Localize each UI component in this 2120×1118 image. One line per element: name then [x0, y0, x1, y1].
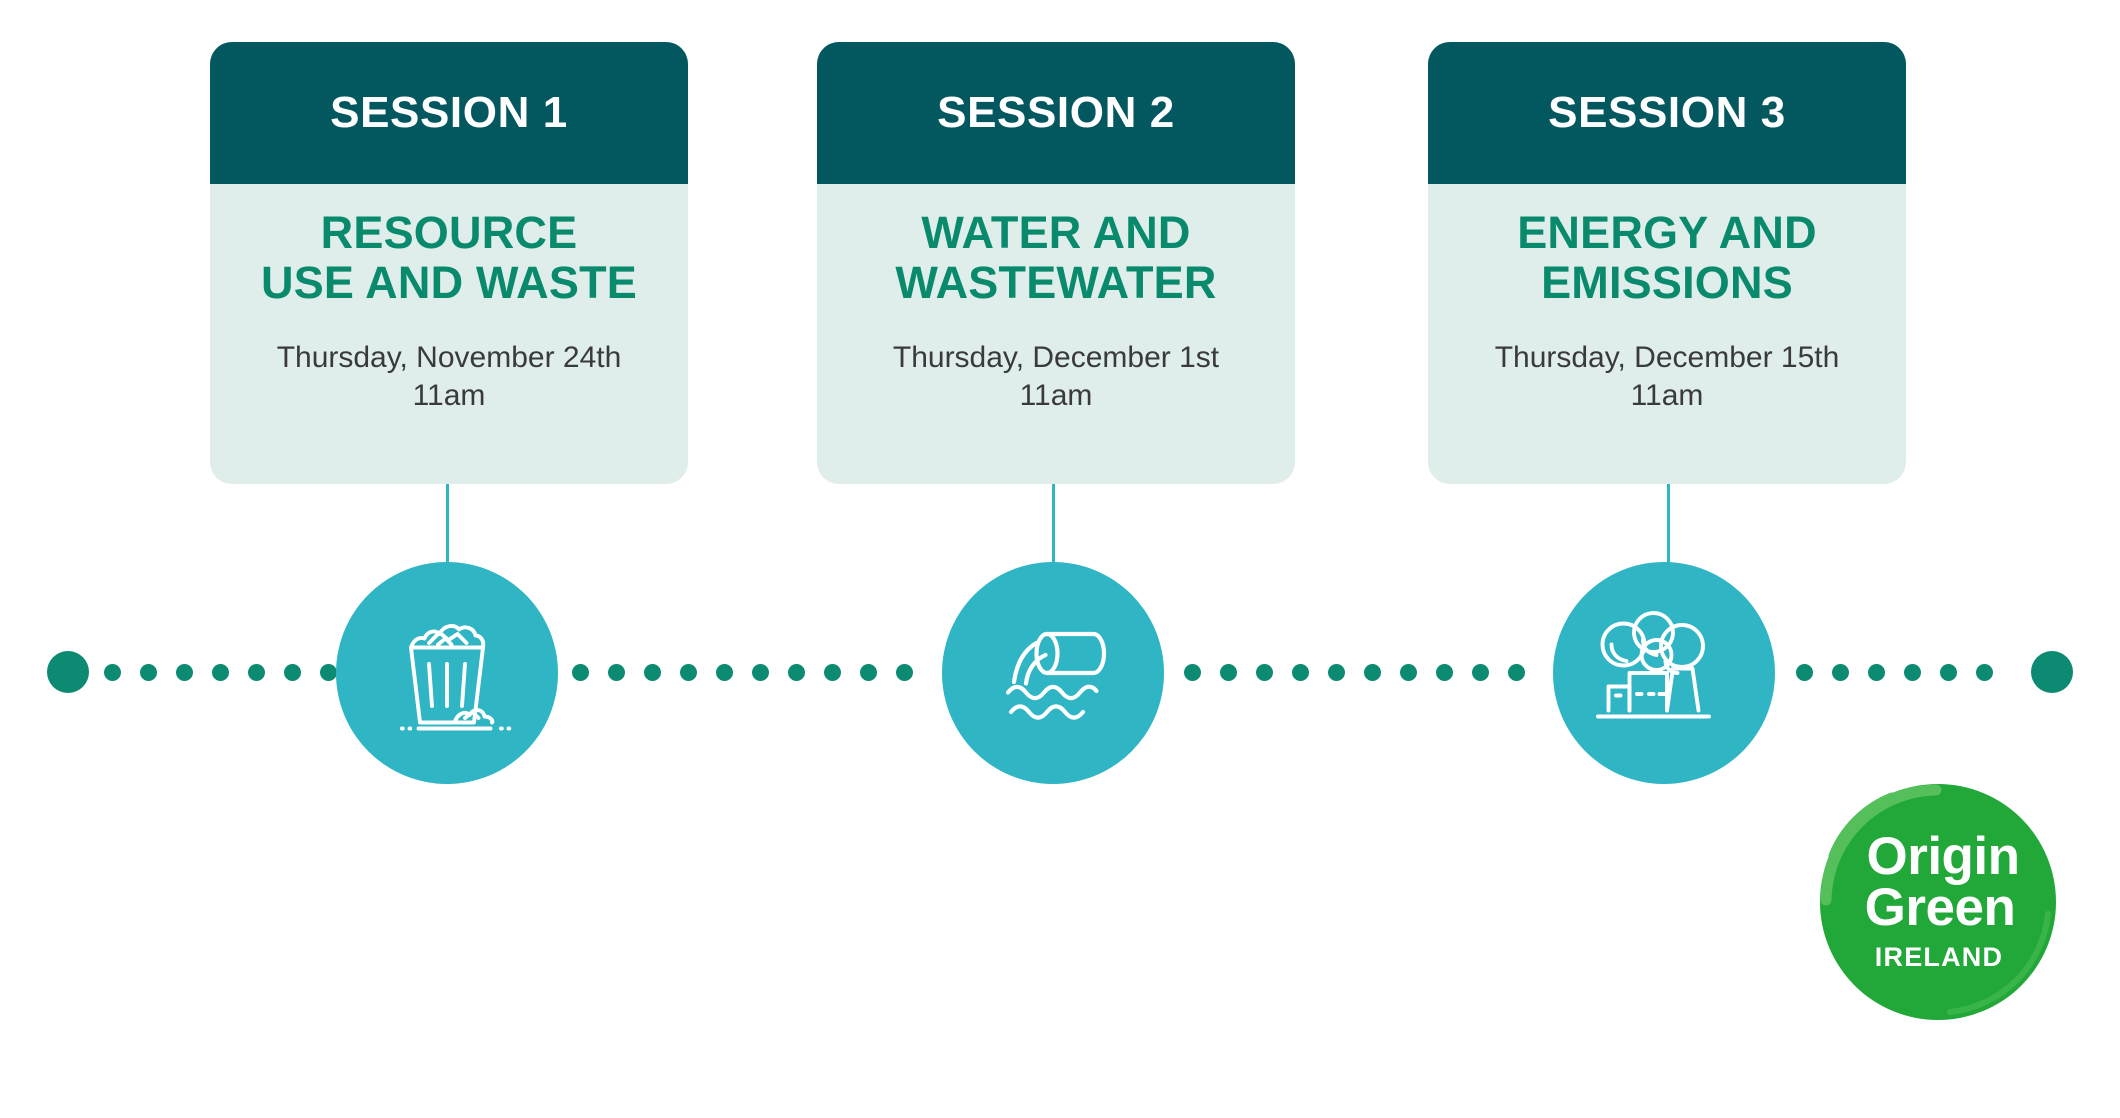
timeline-dot — [824, 664, 841, 681]
timeline-dot — [176, 664, 193, 681]
timeline-dot — [320, 664, 337, 681]
waste-bin-icon — [372, 598, 522, 748]
session-card-3-title: ENERGY AND EMISSIONS — [1446, 208, 1888, 309]
timeline-dot — [1184, 664, 1201, 681]
timeline-dot — [752, 664, 769, 681]
wastewater-pipe-icon — [978, 598, 1128, 748]
session-2-icon-circle[interactable] — [942, 562, 1164, 784]
origin-green-logo[interactable]: Origin Green IRELAND — [1818, 782, 2058, 1022]
timeline-dot — [1832, 664, 1849, 681]
timeline-endpoint-end — [2031, 651, 2073, 693]
timeline-dot — [896, 664, 913, 681]
session-card-3-badge: SESSION 3 — [1548, 91, 1786, 135]
session-card-1-title: RESOURCE USE AND WASTE — [228, 208, 670, 309]
timeline-dot — [140, 664, 157, 681]
session-card-2-body: WATER AND WASTEWATER Thursday, December … — [817, 184, 1295, 414]
session-card-1[interactable]: SESSION 1 RESOURCE USE AND WASTE Thursda… — [210, 42, 688, 484]
origin-green-badge-icon — [1818, 782, 2058, 1022]
session-card-1-body: RESOURCE USE AND WASTE Thursday, Novembe… — [210, 184, 688, 414]
timeline-dot — [644, 664, 661, 681]
timeline-dot — [1976, 664, 1993, 681]
session-card-1-header: SESSION 1 — [210, 42, 688, 184]
timeline-dot — [1436, 664, 1453, 681]
timeline-dot — [104, 664, 121, 681]
timeline-dot — [608, 664, 625, 681]
timeline-dot — [1400, 664, 1417, 681]
session-card-3-header: SESSION 3 — [1428, 42, 1906, 184]
session-3-icon-circle[interactable] — [1553, 562, 1775, 784]
timeline-dot — [572, 664, 589, 681]
connector-stem-session-2 — [1052, 484, 1055, 570]
timeline-dot — [212, 664, 229, 681]
timeline-dot — [1796, 664, 1813, 681]
timeline-dot — [1292, 664, 1309, 681]
session-card-3[interactable]: SESSION 3 ENERGY AND EMISSIONS Thursday,… — [1428, 42, 1906, 484]
timeline-dot — [284, 664, 301, 681]
connector-stem-session-3 — [1667, 484, 1670, 570]
factory-emissions-icon — [1589, 598, 1739, 748]
timeline-dot — [680, 664, 697, 681]
timeline-dot — [1328, 664, 1345, 681]
session-card-2[interactable]: SESSION 2 WATER AND WASTEWATER Thursday,… — [817, 42, 1295, 484]
timeline-dot — [1256, 664, 1273, 681]
timeline-dot — [1508, 664, 1525, 681]
session-card-1-badge: SESSION 1 — [330, 91, 568, 135]
infographic-canvas: SESSION 1 RESOURCE USE AND WASTE Thursda… — [0, 0, 2120, 1118]
session-1-icon-circle[interactable] — [336, 562, 558, 784]
timeline-dot — [860, 664, 877, 681]
timeline-dot — [1364, 664, 1381, 681]
session-card-2-badge: SESSION 2 — [937, 91, 1175, 135]
timeline-dot — [788, 664, 805, 681]
session-card-2-date: Thursday, December 1st 11am — [835, 339, 1277, 415]
connector-stem-session-1 — [446, 484, 449, 570]
timeline-dot — [1904, 664, 1921, 681]
session-card-3-date: Thursday, December 15th 11am — [1446, 339, 1888, 415]
timeline-dot — [248, 664, 265, 681]
timeline-dot — [1220, 664, 1237, 681]
session-card-2-title: WATER AND WASTEWATER — [835, 208, 1277, 309]
timeline-dot — [1868, 664, 1885, 681]
timeline-dot — [1940, 664, 1957, 681]
session-card-3-body: ENERGY AND EMISSIONS Thursday, December … — [1428, 184, 1906, 414]
timeline-dot — [1472, 664, 1489, 681]
timeline-endpoint-start — [47, 651, 89, 693]
session-card-2-header: SESSION 2 — [817, 42, 1295, 184]
timeline-dot — [716, 664, 733, 681]
session-card-1-date: Thursday, November 24th 11am — [228, 339, 670, 415]
